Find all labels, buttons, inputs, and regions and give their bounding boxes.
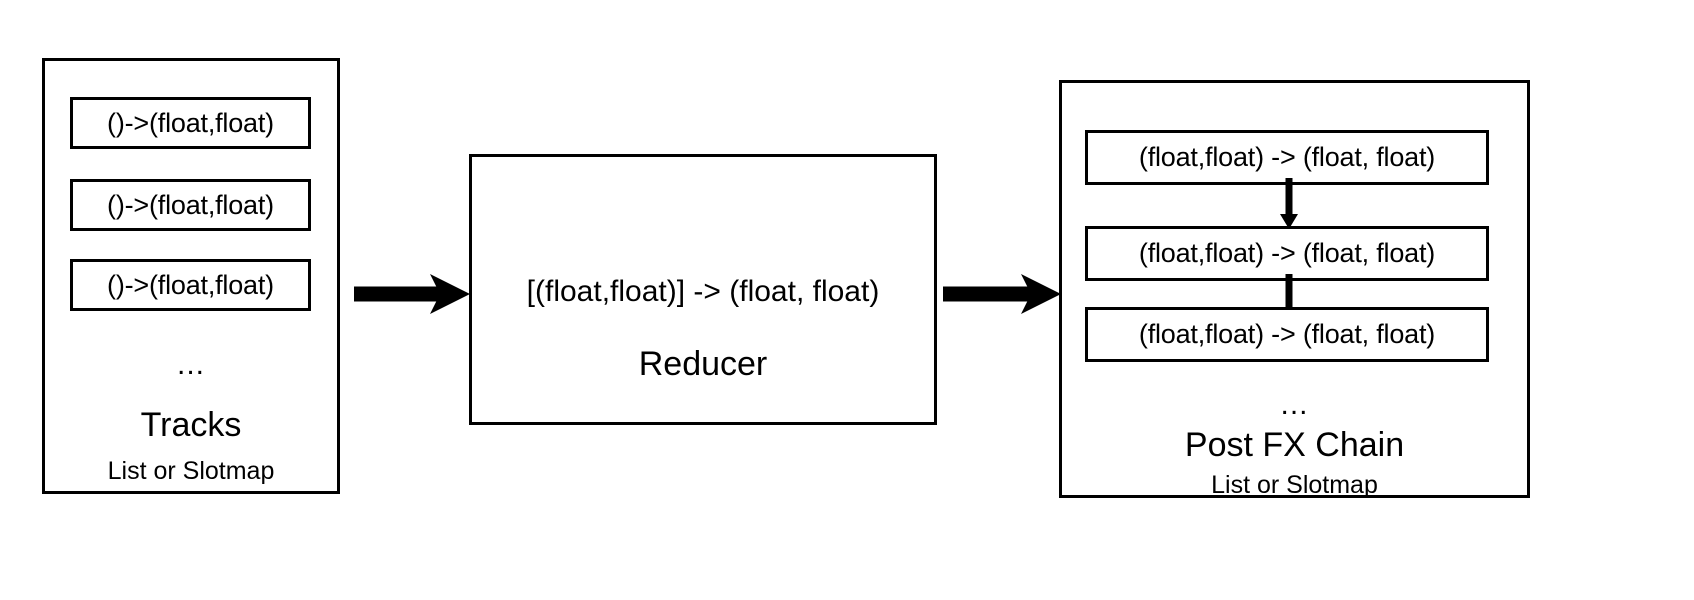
arrow-tracks-to-reducer: [352, 272, 472, 316]
track-item-label: ()->(float,float): [107, 192, 274, 219]
postfx-subtitle: List or Slotmap: [1059, 473, 1530, 498]
track-item-label: ()->(float,float): [107, 272, 274, 299]
reducer-name: Reducer: [469, 347, 937, 381]
postfx-item-1[interactable]: (float,float) -> (float, float): [1085, 130, 1489, 185]
track-item-1[interactable]: ()->(float,float): [70, 97, 311, 149]
track-item-2[interactable]: ()->(float,float): [70, 179, 311, 231]
postfx-title: Post FX Chain: [1059, 428, 1530, 462]
track-item-3[interactable]: ()->(float,float): [70, 259, 311, 311]
postfx-item-label: (float,float) -> (float, float): [1139, 321, 1435, 348]
track-item-label: ()->(float,float): [107, 110, 274, 137]
tracks-ellipsis: ...: [42, 350, 340, 380]
postfx-item-label: (float,float) -> (float, float): [1139, 240, 1435, 267]
arrow-reducer-to-postfx: [941, 272, 1063, 316]
tracks-subtitle: List or Slotmap: [42, 459, 340, 484]
postfx-item-3[interactable]: (float,float) -> (float, float): [1085, 307, 1489, 362]
postfx-item-label: (float,float) -> (float, float): [1139, 144, 1435, 171]
tracks-title: Tracks: [42, 408, 340, 442]
postfx-item-2[interactable]: (float,float) -> (float, float): [1085, 226, 1489, 281]
reducer-signature: [(float,float)] -> (float, float): [469, 277, 937, 307]
diagram-canvas: ()->(float,float) ()->(float,float) ()->…: [0, 0, 1694, 600]
postfx-ellipsis: ...: [1059, 390, 1530, 420]
